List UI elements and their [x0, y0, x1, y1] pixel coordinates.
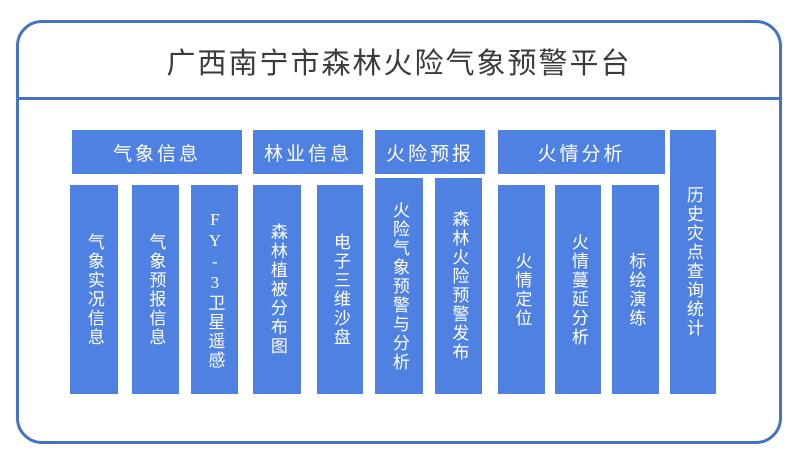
leaf-label: 电子三维沙盘	[330, 233, 350, 347]
leaf-box-forest-fire-risk-warning-release[interactable]: 森林火险预警发布	[435, 178, 482, 394]
group-header-fire-risk-forecast[interactable]: 火险预报	[375, 130, 485, 174]
leaf-box-historical-disaster-point-query-statistics[interactable]: 历史灾点查询统计	[670, 130, 716, 394]
leaf-label: 气象预报信息	[146, 233, 166, 347]
leaf-box-fire-risk-weather-warning-analysis[interactable]: 火险气象预警与分析	[375, 178, 423, 394]
leaf-box-forest-vegetation-distribution-map[interactable]: 森林植被分布图	[253, 185, 301, 394]
leaf-box-fy3-satellite-remote-sensing[interactable]: FY-3卫星遥感	[191, 185, 238, 394]
leaf-box-fire-spread-analysis[interactable]: 火情蔓延分析	[555, 185, 601, 394]
leaf-label: 标绘演练	[626, 252, 646, 328]
group-header-fire-situation-analysis[interactable]: 火情分析	[498, 130, 665, 174]
leaf-label: FY-3卫星遥感	[205, 210, 225, 370]
leaf-label: 气象实况信息	[84, 233, 104, 347]
leaf-label: 火情蔓延分析	[568, 233, 588, 347]
leaf-box-electronic-3d-sandbox[interactable]: 电子三维沙盘	[317, 185, 363, 394]
leaf-box-weather-forecast-info[interactable]: 气象预报信息	[132, 185, 179, 394]
leaf-box-fire-location[interactable]: 火情定位	[498, 185, 545, 394]
leaf-label: 森林火险预警发布	[449, 210, 469, 362]
leaf-box-plotting-drill[interactable]: 标绘演练	[612, 185, 659, 394]
leaf-label: 历史灾点查询统计	[683, 186, 703, 338]
group-header-forestry-info[interactable]: 林业信息	[253, 130, 363, 174]
leaf-label: 火情定位	[512, 252, 532, 328]
groups-area: 气象信息 气象实况信息 气象预报信息 FY-3卫星遥感 林业信息 森林植被分布图…	[0, 0, 798, 459]
diagram-canvas: 广西南宁市森林火险气象预警平台 气象信息 气象实况信息 气象预报信息 FY-3卫…	[0, 0, 798, 459]
leaf-label: 火险气象预警与分析	[389, 201, 409, 372]
leaf-box-weather-live-info[interactable]: 气象实况信息	[70, 185, 118, 394]
group-header-weather-info[interactable]: 气象信息	[72, 130, 242, 174]
leaf-label: 森林植被分布图	[267, 223, 287, 356]
